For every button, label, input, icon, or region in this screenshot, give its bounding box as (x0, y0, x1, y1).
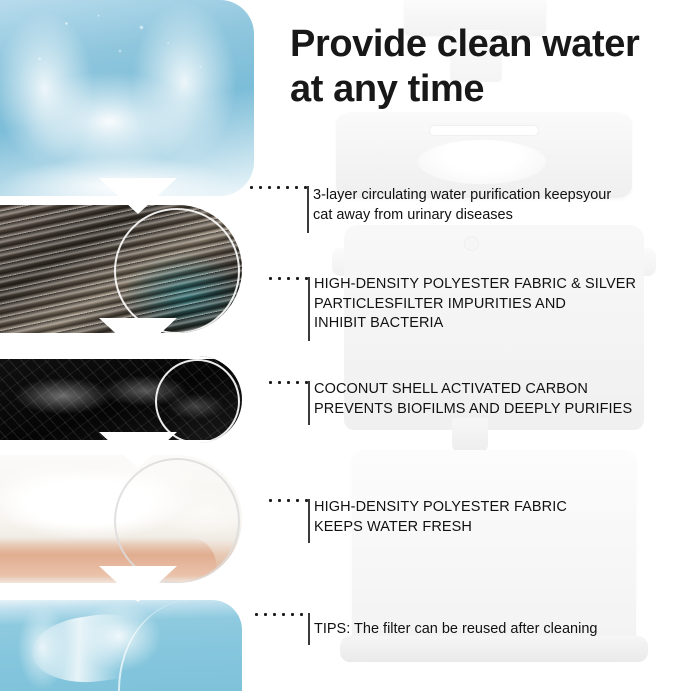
layer-image-water-splash (0, 0, 254, 196)
callout-text: COCONUT SHELL ACTIVATED CARBON PREVENTS … (314, 380, 676, 419)
leader-vertical-bar (308, 277, 310, 341)
leader-vertical-bar (308, 381, 310, 425)
callout-text: 3-layer circulating water purification k… (313, 186, 673, 225)
callout-text: TIPS: The filter can be reused after cle… (314, 620, 676, 640)
fountain-spout (452, 418, 488, 454)
leader-dotted-line (266, 381, 310, 384)
layer-image-cotton-fabric (0, 455, 242, 583)
fountain-lid-slot (430, 126, 538, 135)
infographic-canvas: Provide clean water at any time 3-layer … (0, 0, 679, 691)
leader-dotted-line (247, 186, 309, 189)
fountain-tank-base (340, 636, 648, 662)
leader-dotted-line (266, 499, 310, 502)
water-droplets-overlay (0, 0, 254, 196)
leader-dotted-line (266, 277, 310, 280)
callout-text: HIGH-DENSITY POLYESTER FABRIC & SILVER P… (314, 275, 676, 334)
page-title: Provide clean water at any time (290, 22, 670, 112)
layer-image-clean-water (0, 600, 242, 691)
panel-cap-outline (155, 359, 240, 443)
fountain-indicator-dot (464, 236, 479, 251)
callout-text: HIGH-DENSITY POLYESTER FABRIC KEEPS WATE… (314, 498, 676, 537)
fountain-body-rim (332, 248, 656, 276)
leader-vertical-bar (308, 499, 310, 543)
leader-vertical-bar (308, 613, 310, 645)
flow-arrow-icon (99, 566, 177, 602)
layer-image-activated-carbon (0, 356, 242, 443)
flow-arrow-icon (99, 318, 177, 354)
layer-image-polyester-silver (0, 205, 242, 333)
panel-cap-outline (114, 208, 240, 333)
fountain-lid-dome (418, 140, 546, 184)
panel-top-stripe (0, 356, 242, 359)
panel-cap-outline (114, 458, 240, 583)
leader-vertical-bar (307, 186, 309, 233)
leader-dotted-line (252, 613, 310, 616)
